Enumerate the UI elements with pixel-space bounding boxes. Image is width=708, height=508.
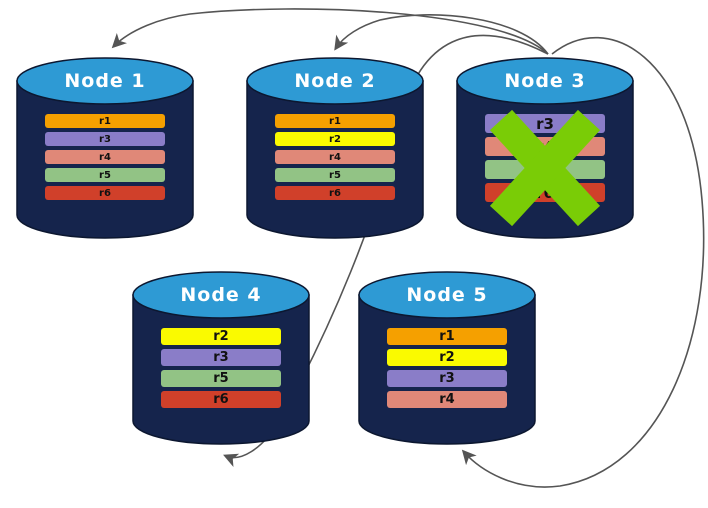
node-3-replica-list: r3r4r5r6 [456, 114, 634, 202]
cylinder-top [457, 58, 633, 104]
node-5[interactable]: Node 5r1r2r3r4 [358, 270, 536, 446]
replica-r4[interactable]: r4 [387, 391, 507, 408]
replica-r3[interactable]: r3 [387, 370, 507, 387]
replica-r4[interactable]: r4 [45, 150, 165, 164]
replica-r6[interactable]: r6 [161, 391, 281, 408]
replica-r1[interactable]: r1 [275, 114, 395, 128]
replica-r1[interactable]: r1 [387, 328, 507, 345]
replica-r2[interactable]: r2 [161, 328, 281, 345]
cylinder-top [247, 58, 423, 104]
node-5-replica-list: r1r2r3r4 [358, 328, 536, 408]
replica-r2[interactable]: r2 [275, 132, 395, 146]
replica-r5[interactable]: r5 [45, 168, 165, 182]
replica-r6[interactable]: r6 [45, 186, 165, 200]
replica-r5[interactable]: r5 [275, 168, 395, 182]
replica-r6[interactable]: r6 [485, 183, 605, 202]
replica-r4[interactable]: r4 [275, 150, 395, 164]
cylinder-top [359, 272, 535, 318]
cylinder-top [133, 272, 309, 318]
node-3[interactable]: Node 3r3r4r5r6 [456, 56, 634, 240]
replica-r3[interactable]: r3 [485, 114, 605, 133]
arrow-node3-to-node1 [114, 9, 548, 54]
replica-r3[interactable]: r3 [161, 349, 281, 366]
replica-r4[interactable]: r4 [485, 137, 605, 156]
diagram-canvas: Node 1r1r3r4r5r6Node 2r1r2r4r5r6Node 3r3… [0, 0, 708, 508]
replica-r1[interactable]: r1 [45, 114, 165, 128]
replica-r6[interactable]: r6 [275, 186, 395, 200]
cylinder-top [17, 58, 193, 104]
node-4-replica-list: r2r3r5r6 [132, 328, 310, 408]
replica-r5[interactable]: r5 [485, 160, 605, 179]
node-4[interactable]: Node 4r2r3r5r6 [132, 270, 310, 446]
replica-r5[interactable]: r5 [161, 370, 281, 387]
replica-r2[interactable]: r2 [387, 349, 507, 366]
node-1[interactable]: Node 1r1r3r4r5r6 [16, 56, 194, 240]
node-1-replica-list: r1r3r4r5r6 [16, 114, 194, 200]
node-2-replica-list: r1r2r4r5r6 [246, 114, 424, 200]
node-2[interactable]: Node 2r1r2r4r5r6 [246, 56, 424, 240]
replica-r3[interactable]: r3 [45, 132, 165, 146]
